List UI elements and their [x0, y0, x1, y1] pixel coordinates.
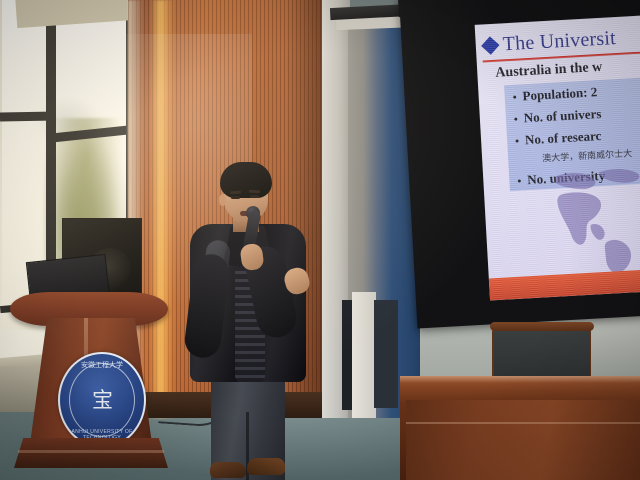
presenter-hair [220, 162, 272, 198]
sunlight-stripe [150, 0, 176, 418]
presenter-eye-right [250, 195, 259, 198]
bullet-dot-icon: • [517, 177, 521, 188]
diamond-bullet-icon [481, 36, 499, 54]
presenter [183, 162, 313, 480]
emblem-top-text: 安徽工程大学 [60, 360, 144, 370]
slide-bullet: • No. of researc [515, 128, 602, 149]
projection-screen: The Universit Australia in the w • Popul… [399, 0, 640, 329]
world-map-graphic [541, 164, 640, 279]
bullet-dot-icon: • [515, 137, 519, 148]
chair-top-rail [490, 322, 594, 331]
presentation-slide: The Universit Australia in the w • Popul… [475, 15, 640, 301]
slide-bullet: • Population: 2 [512, 84, 597, 105]
slide-bottom-band [489, 269, 640, 301]
interior-door [352, 292, 376, 418]
podium-base-trim [18, 450, 164, 453]
emblem-glyph: 宝 [92, 390, 112, 411]
presenter-shoe-right [247, 458, 285, 475]
door-shadow [374, 300, 398, 408]
presenter-ear [219, 194, 226, 206]
bullet-dot-icon: • [514, 115, 518, 126]
slide-bullet-text: Population: 2 [522, 84, 598, 104]
slide-title: The Universit [502, 27, 616, 56]
presenter-eye-left [231, 196, 240, 199]
slide-chinese-note: 澳大学，新南威尔士大 [542, 146, 633, 164]
table-top-highlight [400, 376, 640, 383]
bullet-dot-icon: • [513, 93, 517, 104]
table-front-panel [406, 400, 640, 480]
slide-bullet-text: No. of researc [525, 128, 602, 148]
presenter-shoe-left [210, 462, 246, 478]
presenter-eyebrow-right [249, 190, 260, 194]
table-trim-line [406, 422, 640, 424]
emblem-inner-ring: 宝 [69, 363, 135, 437]
podium-base [14, 438, 168, 468]
lecture-hall-photo: The Universit Australia in the w • Popul… [0, 0, 640, 480]
slide-bullet-text: No. of univers [523, 106, 601, 126]
slide-bullet: • No. of univers [514, 106, 602, 127]
window-mullion-horizontal [0, 112, 56, 122]
university-emblem: 安徽工程大学 宝 ANHUI UNIVERSITY OF TECHNOLOGY [58, 352, 146, 448]
slide-subtitle: Australia in the w [495, 60, 603, 82]
